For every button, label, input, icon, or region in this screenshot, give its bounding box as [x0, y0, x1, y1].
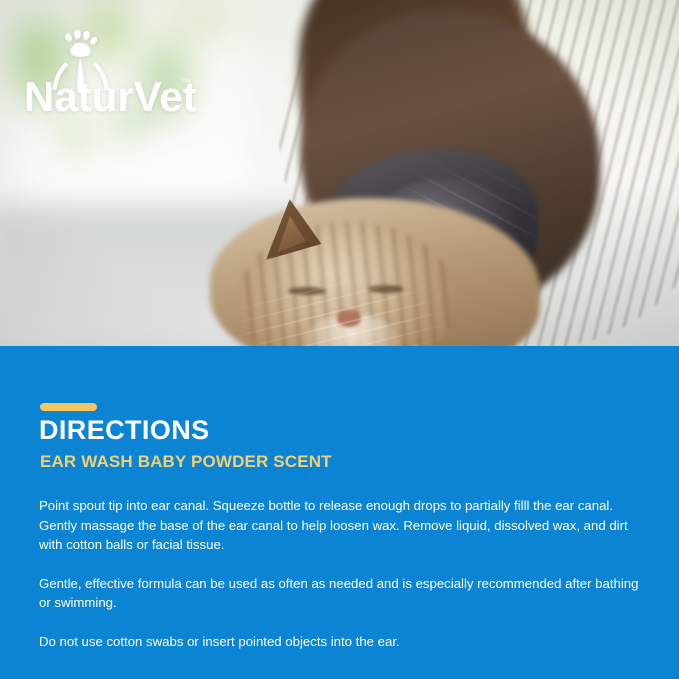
naturvet-logo: NaturVet ™: [22, 22, 202, 114]
page-title: DIRECTIONS: [39, 416, 210, 446]
paw-print-icon: [64, 30, 98, 57]
accent-rule: [40, 403, 97, 411]
trademark-symbol: ™: [180, 77, 191, 89]
directions-panel: DIRECTIONS EAR WASH BABY POWDER SCENT Po…: [0, 346, 679, 679]
directions-paragraph-3: Do not use cotton swabs or insert pointe…: [39, 632, 639, 652]
directions-paragraph-2: Gentle, effective formula can be used as…: [39, 574, 639, 613]
product-subtitle: EAR WASH BABY POWDER SCENT: [40, 453, 332, 472]
directions-text: Point spout tip into ear canal. Squeeze …: [39, 496, 639, 651]
brand-wordmark: NaturVet: [24, 73, 197, 114]
hero-photo: NaturVet ™: [0, 0, 679, 346]
directions-paragraph-1: Point spout tip into ear canal. Squeeze …: [39, 496, 639, 555]
product-directions-image: NaturVet ™ DIRECTIONS EAR WASH BABY POWD…: [0, 0, 679, 679]
